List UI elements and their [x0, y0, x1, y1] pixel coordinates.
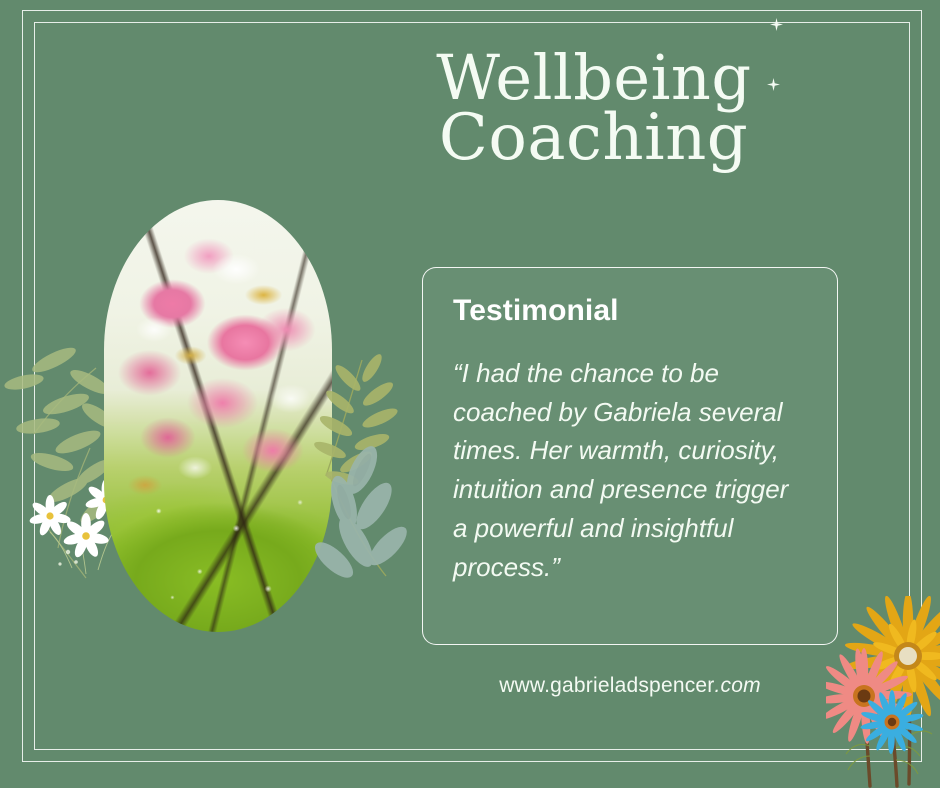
- url-tld-text: .com: [714, 674, 760, 697]
- photo-highlights: [104, 200, 332, 632]
- gerbera-flowers-decoration: [826, 596, 940, 788]
- title-line-1: Wellbeing: [404, 48, 804, 108]
- sparkle-four-point-icon-2: [767, 78, 780, 91]
- poster-canvas: Wellbeing Coaching Testimonial “I had th…: [0, 0, 940, 788]
- right-foliage-decoration: [300, 350, 420, 590]
- title-line-2-text: Coaching: [439, 101, 748, 175]
- url-main-text: www.gabrieladspencer: [499, 674, 714, 697]
- testimonial-heading: Testimonial: [453, 294, 807, 328]
- testimonial-quote: “I had the chance to be coached by Gabri…: [453, 354, 807, 586]
- testimonial-card: Testimonial “I had the chance to be coac…: [422, 267, 838, 645]
- cherry-blossom-photo: [104, 200, 332, 632]
- title-line-2: Coaching: [404, 108, 804, 169]
- page-title: Wellbeing Coaching: [404, 48, 804, 169]
- sparkle-four-point-icon: [770, 18, 783, 31]
- website-url[interactable]: www.gabrieladspencer.com: [422, 674, 838, 698]
